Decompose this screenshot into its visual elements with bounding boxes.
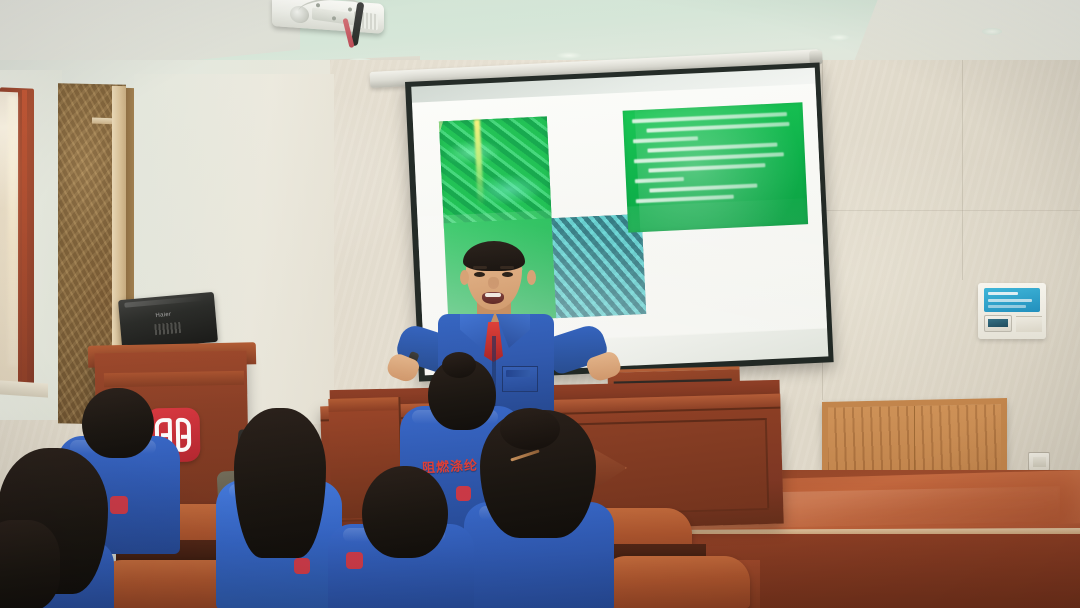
uniform-logo <box>294 558 310 574</box>
slide-text-line <box>635 177 684 183</box>
attendee-hair-bun <box>500 408 560 450</box>
ceiling-light-5 <box>828 34 850 41</box>
wall-seam-2 <box>962 60 963 280</box>
ceiling-light-6 <box>982 28 1002 35</box>
haier-monitor: Haier <box>118 292 218 350</box>
window-frame-edge <box>22 90 27 386</box>
wall-seam-horizontal <box>820 210 1080 211</box>
air-conditioner-control-panel[interactable] <box>978 283 1046 339</box>
presenter-nose <box>488 277 499 289</box>
slide-text-line <box>647 143 777 153</box>
ceiling-light-4 <box>556 52 582 59</box>
slide-text-line <box>636 195 734 204</box>
ac-panel-display <box>984 288 1040 312</box>
slide-text-line <box>632 112 787 123</box>
meeting-room-photo: 清洁生产 <box>0 0 1080 608</box>
presenter-ear-left <box>460 270 469 285</box>
attendee-hair-bun <box>442 352 476 378</box>
chair-row-mid-2 <box>600 556 750 608</box>
presenter-eyebrow-left <box>473 266 487 269</box>
projector-screw-2 <box>332 16 336 20</box>
slide-text-line <box>646 122 789 133</box>
attendee-head <box>0 520 60 608</box>
attendee-bun <box>458 410 618 608</box>
monitor-vent <box>154 322 181 335</box>
presenter-mouth <box>482 292 504 304</box>
light-switch[interactable] <box>1028 452 1050 471</box>
presenter-eye-left <box>474 272 485 277</box>
ac-panel-secondary-display <box>984 315 1012 332</box>
uniform-logo <box>346 552 363 569</box>
slide-text-line <box>633 136 698 143</box>
slide-text-line <box>634 152 784 163</box>
ceiling-projector <box>262 0 402 52</box>
slide-text-line <box>648 163 765 173</box>
podium-mid-rail <box>104 371 244 387</box>
slide-image-green-microscopy <box>439 116 552 229</box>
monitor-brand-label: Haier <box>155 312 171 319</box>
window-sunlight <box>8 96 17 366</box>
presenter-eyebrow-right <box>500 266 514 269</box>
attendee-head <box>234 408 326 558</box>
slide-text-line <box>649 184 757 193</box>
attendee-far-left-edge <box>0 520 70 608</box>
presenter-eye-right <box>502 272 513 277</box>
ac-panel-buttons[interactable] <box>1016 316 1042 332</box>
attendee-front-right <box>328 466 478 608</box>
attendee-head <box>362 466 448 558</box>
presenter-ear-right <box>527 270 536 285</box>
slide-text-block <box>623 102 809 232</box>
